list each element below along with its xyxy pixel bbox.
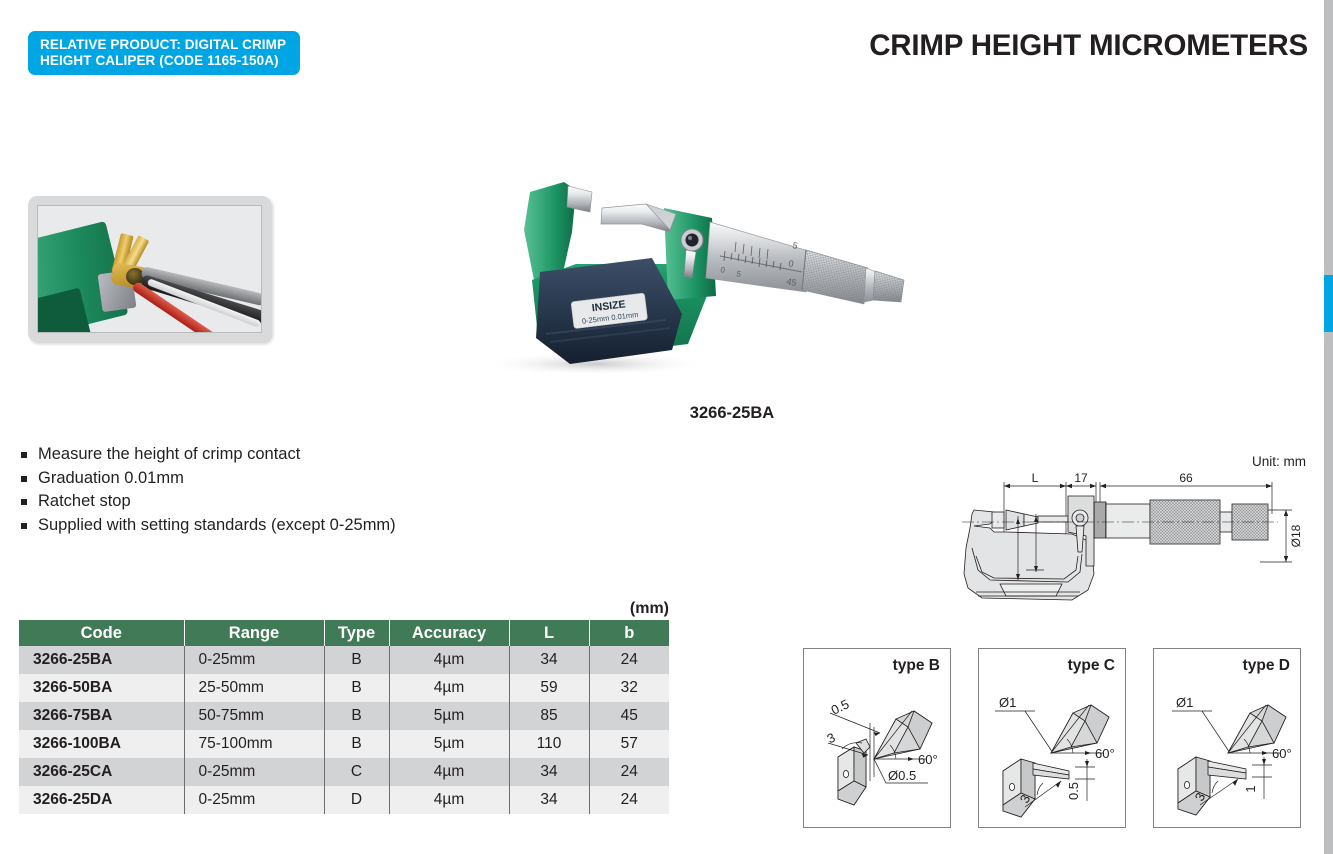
type-b-diagram: 0.5 3 60° Ø0.5 — [804, 649, 952, 829]
cell-code: 3266-25BA — [19, 646, 184, 674]
cell-code: 3266-75BA — [19, 702, 184, 730]
cell-l: 85 — [509, 702, 589, 730]
cell-code: 3266-50BA — [19, 674, 184, 702]
feature-list: Measure the height of crimp contact Grad… — [19, 443, 396, 537]
unit-note: Unit: mm — [1252, 454, 1306, 469]
cell-code: 3266-25CA — [19, 758, 184, 786]
table-row: 3266-100BA 75-100mm B 5µm 110 57 — [19, 730, 669, 758]
type-box-d: type D Ø1 60° — [1153, 648, 1301, 828]
dimension-drawing: L 17 66 Ø18 b Ø6.5 — [960, 470, 1310, 610]
page-edge-tab[interactable] — [1324, 275, 1333, 332]
type-b-dim-diameter: Ø0.5 — [888, 768, 916, 783]
cell-l: 110 — [509, 730, 589, 758]
dim-label-L: L — [1032, 471, 1039, 485]
feature-item: Supplied with setting standards (except … — [19, 514, 396, 538]
type-box-c: type C Ø1 60° — [978, 648, 1126, 828]
column-header-code: Code — [19, 620, 184, 646]
cell-range: 0-25mm — [184, 646, 324, 674]
dimension-drawing-svg: L 17 66 Ø18 b Ø6.5 — [960, 470, 1310, 610]
cell-type: C — [324, 758, 389, 786]
cell-b: 24 — [589, 758, 669, 786]
page-edge-rail — [1324, 0, 1333, 854]
application-photo-image — [37, 205, 262, 333]
cell-accuracy: 4µm — [389, 646, 509, 674]
column-header-b: b — [589, 620, 669, 646]
type-d-dim-angle: 60° — [1272, 746, 1292, 761]
type-c-dim-angle: 60° — [1095, 746, 1115, 761]
cell-type: B — [324, 730, 389, 758]
cell-b: 24 — [589, 646, 669, 674]
cell-b: 32 — [589, 674, 669, 702]
column-header-range: Range — [184, 620, 324, 646]
product-photo: INSIZE 0-25mm 0.01mm 5 0 45 0 5 — [420, 168, 910, 373]
cell-accuracy: 4µm — [389, 674, 509, 702]
cell-l: 34 — [509, 646, 589, 674]
cell-accuracy: 4µm — [389, 758, 509, 786]
cell-b: 24 — [589, 786, 669, 814]
column-header-type: Type — [324, 620, 389, 646]
cell-accuracy: 5µm — [389, 730, 509, 758]
table-row: 3266-25DA 0-25mm D 4µm 34 24 — [19, 786, 669, 814]
cell-l: 34 — [509, 758, 589, 786]
feature-item: Ratchet stop — [19, 490, 396, 514]
type-c-dim-height: 0.5 — [1066, 782, 1081, 800]
cell-type: B — [324, 702, 389, 730]
table-row: 3266-75BA 50-75mm B 5µm 85 45 — [19, 702, 669, 730]
cell-type: B — [324, 646, 389, 674]
specifications-table: Code Range Type Accuracy L b 3266-25BA 0… — [19, 620, 669, 814]
svg-text:45: 45 — [786, 276, 798, 288]
table-unit-note: (mm) — [19, 600, 669, 618]
dim-label-66: 66 — [1179, 471, 1193, 485]
feature-item: Graduation 0.01mm — [19, 467, 396, 491]
relative-product-badge-line2: HEIGHT CALIPER (CODE 1165-150A) — [40, 53, 291, 69]
type-d-dim-height: 1 — [1243, 785, 1258, 792]
type-box-b: type B 0.5 3 — [803, 648, 951, 828]
relative-product-badge[interactable]: RELATIVE PRODUCT: DIGITAL CRIMP HEIGHT C… — [28, 31, 300, 75]
product-photo-image: INSIZE 0-25mm 0.01mm 5 0 45 0 5 — [420, 168, 910, 373]
cell-accuracy: 5µm — [389, 702, 509, 730]
type-b-dim-top: 0.5 — [829, 696, 852, 717]
type-c-dim-diameter: Ø1 — [999, 695, 1016, 710]
column-header-l: L — [509, 620, 589, 646]
dim-label-d18: Ø18 — [1289, 524, 1303, 547]
table-row: 3266-25CA 0-25mm C 4µm 34 24 — [19, 758, 669, 786]
cell-l: 59 — [509, 674, 589, 702]
cell-code: 3266-100BA — [19, 730, 184, 758]
application-photo — [28, 196, 271, 342]
relative-product-badge-line1: RELATIVE PRODUCT: DIGITAL CRIMP — [40, 37, 291, 53]
product-code-caption: 3266-25BA — [612, 404, 852, 423]
type-d-diagram: Ø1 60° 3 — [1154, 649, 1302, 829]
cell-range: 75-100mm — [184, 730, 324, 758]
cell-type: D — [324, 786, 389, 814]
page-title: CRIMP HEIGHT MICROMETERS — [869, 29, 1308, 63]
table-row: 3266-50BA 25-50mm B 4µm 59 32 — [19, 674, 669, 702]
cell-range: 25-50mm — [184, 674, 324, 702]
cell-l: 34 — [509, 786, 589, 814]
cell-range: 50-75mm — [184, 702, 324, 730]
cell-type: B — [324, 674, 389, 702]
type-d-dim-diameter: Ø1 — [1176, 695, 1193, 710]
cell-b: 57 — [589, 730, 669, 758]
feature-item: Measure the height of crimp contact — [19, 443, 396, 467]
column-header-accuracy: Accuracy — [389, 620, 509, 646]
type-b-dim-angle-small: 3 — [824, 730, 837, 747]
cell-accuracy: 4µm — [389, 786, 509, 814]
cell-code: 3266-25DA — [19, 786, 184, 814]
table-header-row: Code Range Type Accuracy L b — [19, 620, 669, 646]
type-c-diagram: Ø1 60° 3 — [979, 649, 1127, 829]
cell-b: 45 — [589, 702, 669, 730]
table-row: 3266-25BA 0-25mm B 4µm 34 24 — [19, 646, 669, 674]
dim-label-17: 17 — [1074, 471, 1088, 485]
cell-range: 0-25mm — [184, 758, 324, 786]
cell-range: 0-25mm — [184, 786, 324, 814]
type-b-dim-angle: 60° — [918, 752, 938, 767]
